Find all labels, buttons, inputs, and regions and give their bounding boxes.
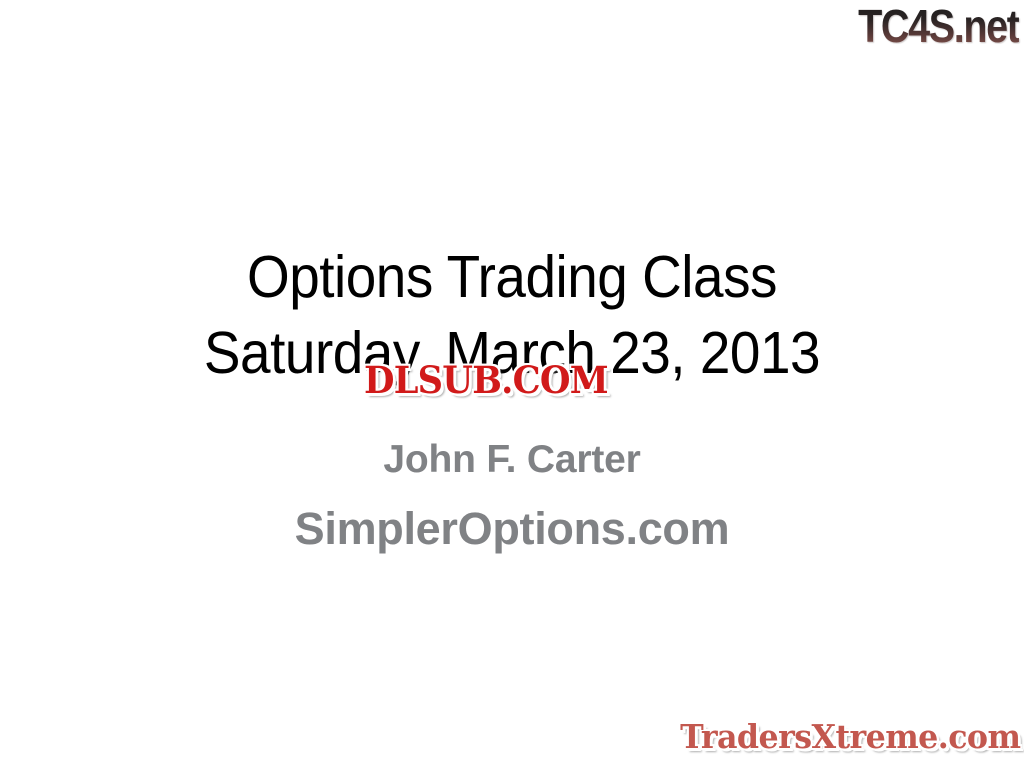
title-line-1: Options Trading Class xyxy=(36,248,988,307)
presenter-name: John F. Carter xyxy=(0,440,1024,479)
slide-subtitle: John F. Carter SimplerOptions.com xyxy=(0,440,1024,551)
presentation-slide: TC4S.net Options Trading Class Saturday,… xyxy=(0,0,1024,768)
dlsub-com-watermark: DLSUB.COM xyxy=(364,360,608,400)
presenter-website: SimplerOptions.com xyxy=(0,506,1024,551)
tc4s-net-logo: TC4S.net xyxy=(859,2,1019,50)
tradersxtreme-com-watermark: TradersXtreme.com xyxy=(680,718,1020,756)
